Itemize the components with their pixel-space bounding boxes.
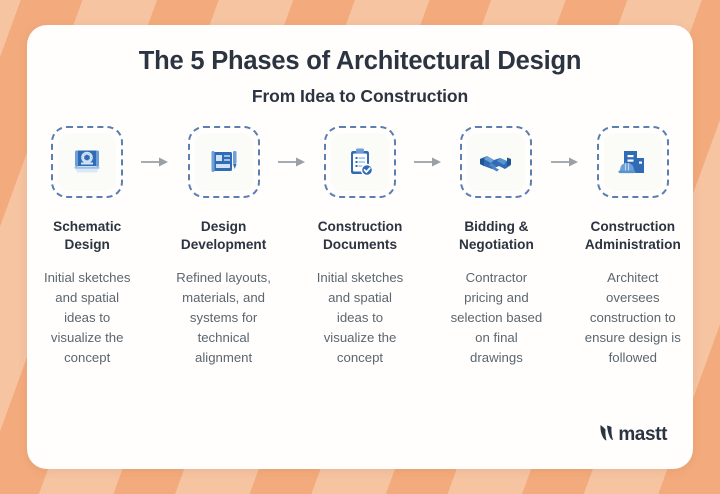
brand-logo: mastt [598,422,667,447]
phase-icon-inner [58,133,116,191]
phase-title: Design Development [175,218,271,254]
phase-icon-frame [460,126,532,198]
infographic-card: The 5 Phases of Architectural Design Fro… [27,25,693,469]
handshake-icon [478,147,514,177]
phase-description: Refined layouts, materials, and systems … [175,268,271,368]
phase-description: Contractor pricing and selection based o… [448,268,544,368]
phase-item: Construction Documents Initial sketches … [312,126,408,369]
phase-flow: Schematic Design Initial sketches and sp… [27,126,693,369]
phase-description: Initial sketches and spatial ideas to vi… [39,268,135,368]
phase-icon-frame [188,126,260,198]
phase-title: Bidding & Negotiation [448,218,544,254]
phase-icon-inner [195,133,253,191]
phase-item: Bidding & Negotiation Contractor pricing… [448,126,544,369]
page-title: The 5 Phases of Architectural Design [27,46,693,77]
phase-item: Design Development Refined layouts, mate… [175,126,271,369]
poster-background: The 5 Phases of Architectural Design Fro… [0,0,720,494]
flow-arrow-icon [272,126,312,198]
phase-description: Architect oversees construction to ensur… [585,268,681,368]
flow-arrow-icon [135,126,175,198]
phase-item: Schematic Design Initial sketches and sp… [39,126,135,369]
phase-icon-frame [51,126,123,198]
phase-icon-frame [324,126,396,198]
blueprint-roll-icon [70,145,104,179]
floor-plan-pen-icon [207,145,241,179]
building-hardhat-icon [616,145,650,179]
brand-logo-text: mastt [618,424,667,446]
heading-block: The 5 Phases of Architectural Design Fro… [27,25,693,107]
phase-icon-frame [597,126,669,198]
mastt-flame-icon [598,422,615,447]
flow-arrow-icon [408,126,448,198]
flow-arrow-icon [545,126,585,198]
clipboard-check-icon [343,145,377,179]
phase-title: Construction Documents [312,218,408,254]
phase-item: Construction Administration Architect ov… [585,126,681,369]
phase-title: Construction Administration [585,218,681,254]
phase-description: Initial sketches and spatial ideas to vi… [312,268,408,368]
phase-icon-inner [467,133,525,191]
phase-icon-inner [331,133,389,191]
phase-title: Schematic Design [39,218,135,254]
phase-icon-inner [604,133,662,191]
page-subtitle: From Idea to Construction [27,86,693,107]
